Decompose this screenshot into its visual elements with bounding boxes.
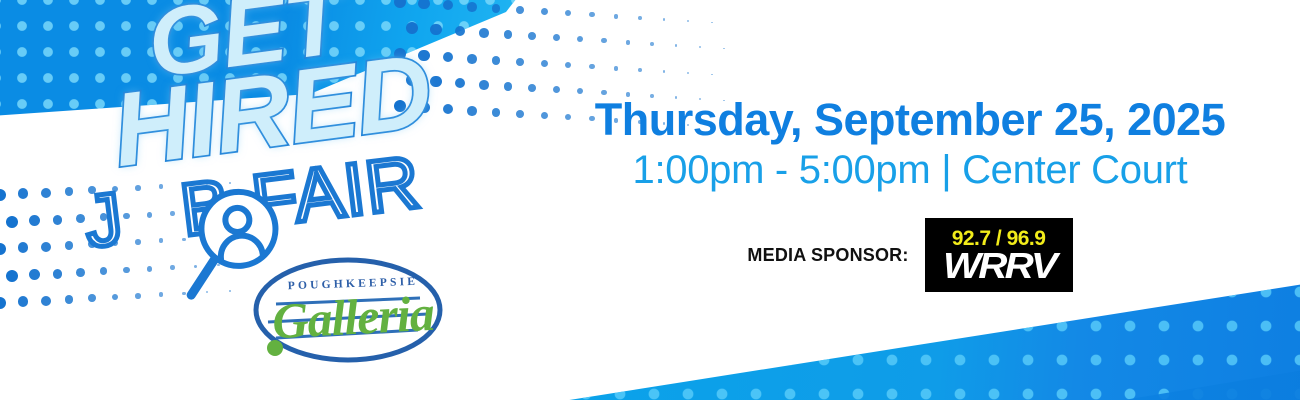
poughkeepsie-galleria-logo: POUGHKEEPSIE Galleria (248, 252, 448, 370)
galleria-script-text: Galleria (271, 284, 436, 350)
job-fair-banner: GET HIRED JOB FAIR POUGHKEEPSIE Galleria (0, 0, 1300, 400)
media-sponsor-label: MEDIA SPONSOR: (747, 245, 908, 266)
event-time-location: 1:00pm - 5:00pm | Center Court (560, 148, 1260, 193)
event-info-column: Thursday, September 25, 2025 1:00pm - 5:… (560, 0, 1300, 400)
event-date: Thursday, September 25, 2025 (560, 94, 1260, 146)
media-sponsor-row: MEDIA SPONSOR: 92.7 / 96.9 WRRV (560, 218, 1260, 292)
get-hired-job-fair-logo: GET HIRED JOB FAIR POUGHKEEPSIE Galleria (58, 4, 528, 374)
wrrv-station-logo: 92.7 / 96.9 WRRV (925, 218, 1073, 292)
wrrv-callsign: WRRV (943, 248, 1055, 284)
